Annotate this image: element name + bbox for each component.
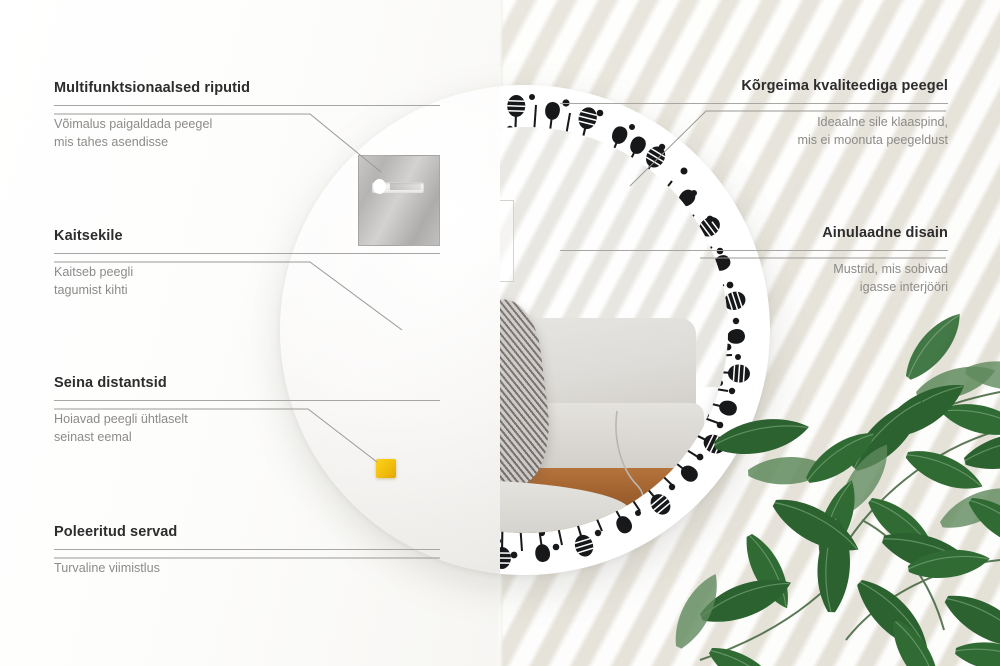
wall-spacer [376,459,396,478]
callout-title: Kaitsekile [54,228,440,244]
callout-protective-film: Kaitsekile Kaitseb peegli tagumist kihti [54,228,440,300]
product-infographic: Multifunktsionaalsed riputid Võimalus pa… [0,0,1000,666]
callout-desc: Kaitseb peegli tagumist kihti [54,263,440,300]
callout-polished-edges: Poleeritud servad Turvaline viimistlus [54,524,440,577]
callout-rule [560,250,948,251]
callout-rule [54,105,440,106]
callout-rule [54,253,440,254]
callout-rule [560,103,948,104]
callout-title: Multifunktsionaalsed riputid [54,80,440,96]
callout-multifunctional-hangers: Multifunktsionaalsed riputid Võimalus pa… [54,80,440,152]
callout-desc: Võimalus paigaldada peegel mis tahes ase… [54,115,440,152]
callout-desc: Mustrid, mis sobivad igasse interjööri [560,260,948,297]
callout-unique-design: Ainulaadne disain Mustrid, mis sobivad i… [560,225,948,297]
callout-desc: Ideaalne sile klaaspind, mis ei moonuta … [560,113,948,150]
callout-title: Poleeritud servad [54,524,440,540]
keyhole-slot-icon [372,182,424,193]
callout-wall-spacers: Seina distantsid Hoiavad peegli ühtlasel… [54,375,440,447]
callout-title: Kõrgeima kvaliteediga peegel [560,78,948,94]
callout-highest-quality-mirror: Kõrgeima kvaliteediga peegel Ideaalne si… [560,78,948,150]
callout-desc: Turvaline viimistlus [54,559,440,577]
callout-rule [54,400,440,401]
round-mirror [280,85,770,575]
reflected-lamp-wire [611,409,671,509]
callout-rule [54,549,440,550]
callout-title: Ainulaadne disain [560,225,948,241]
callout-title: Seina distantsid [54,375,440,391]
callout-desc: Hoiavad peegli ühtlaselt seinast eemal [54,410,440,447]
